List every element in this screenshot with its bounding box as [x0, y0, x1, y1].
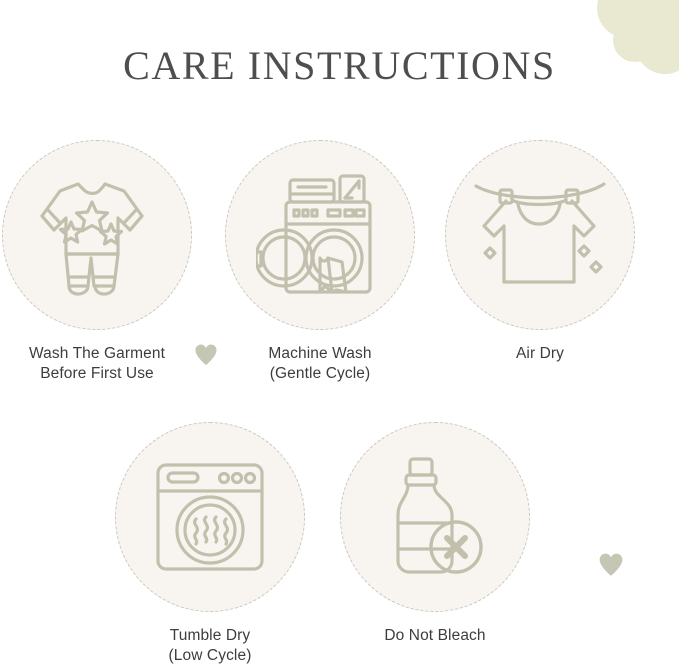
caption-line-1: Do Not Bleach: [384, 627, 485, 644]
care-item-air-dry: Air Dry: [442, 140, 638, 364]
tumble-dryer-icon: [154, 461, 266, 573]
care-item-tumble-dry: Tumble Dry (Low Cycle): [112, 422, 308, 666]
icon-circle: [445, 140, 635, 330]
care-instructions-page: CARE INSTRUCTIONS: [0, 0, 679, 667]
care-item-machine-wash: Machine Wash (Gentle Cycle): [222, 140, 418, 384]
caption-line-1: Air Dry: [516, 345, 564, 362]
care-item-caption: Tumble Dry (Low Cycle): [112, 626, 308, 666]
icon-circle: [225, 140, 415, 330]
caption-line-2: (Low Cycle): [112, 646, 308, 666]
care-item-caption: Wash The Garment Before First Use: [0, 344, 195, 384]
care-item-caption: Air Dry: [442, 344, 638, 364]
icon-circle: [115, 422, 305, 612]
caption-line-1: Machine Wash: [268, 345, 371, 362]
clothesline-tshirt-icon: [474, 176, 606, 294]
heart-icon: [598, 552, 624, 578]
heart-icon: [194, 343, 218, 367]
icon-circle: [340, 422, 530, 612]
care-item-caption: Do Not Bleach: [337, 626, 533, 646]
caption-line-2: Before First Use: [0, 364, 195, 384]
care-item-caption: Machine Wash (Gentle Cycle): [222, 344, 418, 384]
page-title: CARE INSTRUCTIONS: [0, 42, 679, 89]
washing-machine-icon: [256, 174, 384, 296]
caption-line-1: Wash The Garment: [29, 345, 165, 362]
caption-line-2: (Gentle Cycle): [222, 364, 418, 384]
care-item-wash-before-first-use: Wash The Garment Before First Use: [0, 140, 195, 384]
care-item-do-not-bleach: Do Not Bleach: [337, 422, 533, 646]
bleach-bottle-prohibited-icon: [380, 457, 490, 577]
caption-line-1: Tumble Dry: [170, 627, 251, 644]
pajama-set-icon: [38, 174, 156, 296]
icon-circle: [2, 140, 192, 330]
